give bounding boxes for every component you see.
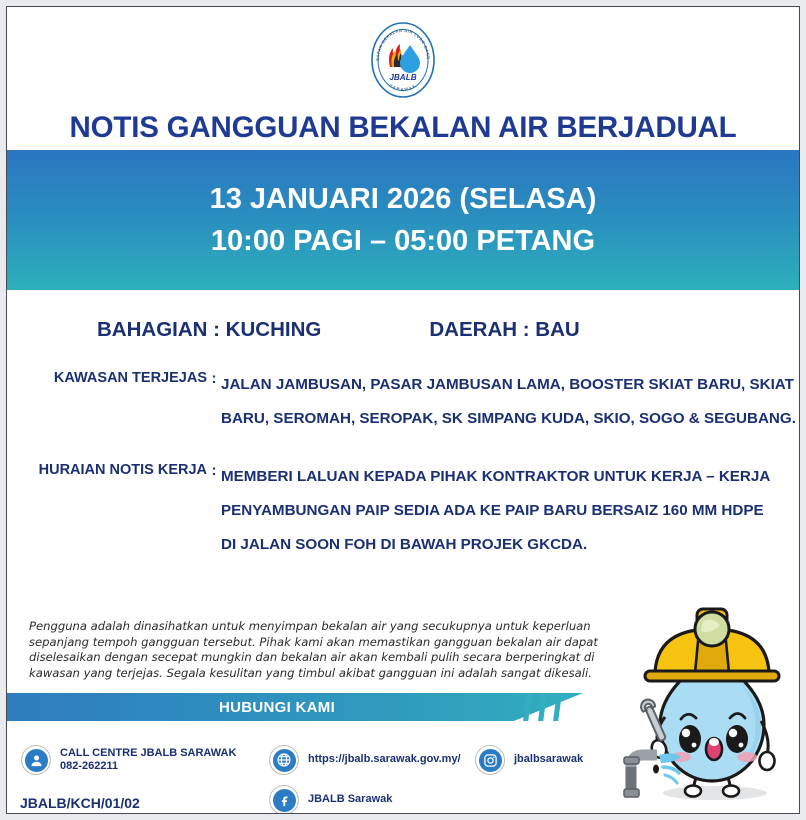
call-centre-number: 082-262211 — [60, 760, 236, 774]
instagram-icon — [475, 745, 505, 775]
call-centre-name: CALL CENTRE JBALB SARAWAK — [60, 747, 236, 761]
field-line: BARU, SEROMAH, SEROPAK, SK SIMPANG KUDA,… — [221, 402, 796, 436]
notice-poster: JABATAN BEKALAN AIR LUAR BANDAR JBALB SA… — [6, 6, 800, 814]
field-kawasan-terjejas: KAWASAN TERJEJAS : JALAN JAMBUSAN, PASAR… — [7, 368, 799, 436]
notice-date: 13 JANUARI 2026 (SELASA) — [210, 183, 597, 216]
notice-time: 10:00 PAGI – 05:00 PETANG — [211, 225, 595, 258]
field-label: KAWASAN TERJEJAS — [7, 368, 207, 386]
jbalb-logo-icon: JABATAN BEKALAN AIR LUAR BANDAR JBALB SA… — [370, 21, 436, 99]
field-colon: : — [207, 460, 221, 479]
location-row: BAHAGIAN : KUCHING DAERAH : BAU — [7, 318, 799, 342]
svg-text:JBALB: JBALB — [389, 73, 416, 82]
date-time-banner: 13 JANUARI 2026 (SELASA) 10:00 PAGI – 05… — [7, 150, 799, 290]
field-value: JALAN JAMBUSAN, PASAR JAMBUSAN LAMA, BOO… — [221, 368, 796, 436]
contact-banner: HUBUNGI KAMI — [7, 693, 653, 721]
contact-call-text: CALL CENTRE JBALB SARAWAK 082-262211 — [60, 747, 236, 774]
field-line: DI JALAN SOON FOH DI BAWAH PROJEK GKCDA. — [221, 528, 770, 562]
website-url[interactable]: https://jbalb.sarawak.gov.my/ — [308, 753, 461, 767]
contact-banner-title: HUBUNGI KAMI — [7, 693, 547, 721]
facebook-icon — [269, 785, 299, 814]
contact-facebook[interactable]: JBALB Sarawak — [269, 785, 392, 814]
contact-instagram[interactable]: jbalbsarawak — [475, 745, 583, 775]
logo-container: JABATAN BEKALAN AIR LUAR BANDAR JBALB SA… — [7, 21, 799, 99]
globe-icon — [269, 745, 299, 775]
field-huraian-notis-kerja: HURAIAN NOTIS KERJA : MEMBERI LALUAN KEP… — [7, 460, 799, 562]
contact-website[interactable]: https://jbalb.sarawak.gov.my/ — [269, 745, 461, 775]
daerah-label: DAERAH : BAU — [429, 318, 579, 342]
page-title: NOTIS GANGGUAN BEKALAN AIR BERJADUAL — [7, 111, 799, 145]
water-droplet-mascot-icon — [619, 597, 795, 811]
contacts-section: CALL CENTRE JBALB SARAWAK 082-262211 htt… — [7, 729, 653, 814]
field-value: MEMBERI LALUAN KEPADA PIHAK KONTRAKTOR U… — [221, 460, 770, 562]
field-colon: : — [207, 368, 221, 387]
field-line: PENYAMBUNGAN PAIP SEDIA ADA KE PAIP BARU… — [221, 494, 770, 528]
instagram-handle[interactable]: jbalbsarawak — [514, 753, 583, 767]
field-label: HURAIAN NOTIS KERJA — [7, 460, 207, 478]
contact-call-centre[interactable]: CALL CENTRE JBALB SARAWAK 082-262211 — [21, 745, 236, 775]
field-line: JALAN JAMBUSAN, PASAR JAMBUSAN LAMA, BOO… — [221, 368, 796, 402]
facebook-page[interactable]: JBALB Sarawak — [308, 793, 392, 807]
bahagian-label: BAHAGIAN : KUCHING — [97, 318, 321, 342]
reference-number: JBALB/KCH/01/02 — [20, 795, 140, 811]
person-icon — [21, 745, 51, 775]
advisory-note: Pengguna adalah dinasihatkan untuk menyi… — [29, 619, 601, 681]
field-line: MEMBERI LALUAN KEPADA PIHAK KONTRAKTOR U… — [221, 460, 770, 494]
